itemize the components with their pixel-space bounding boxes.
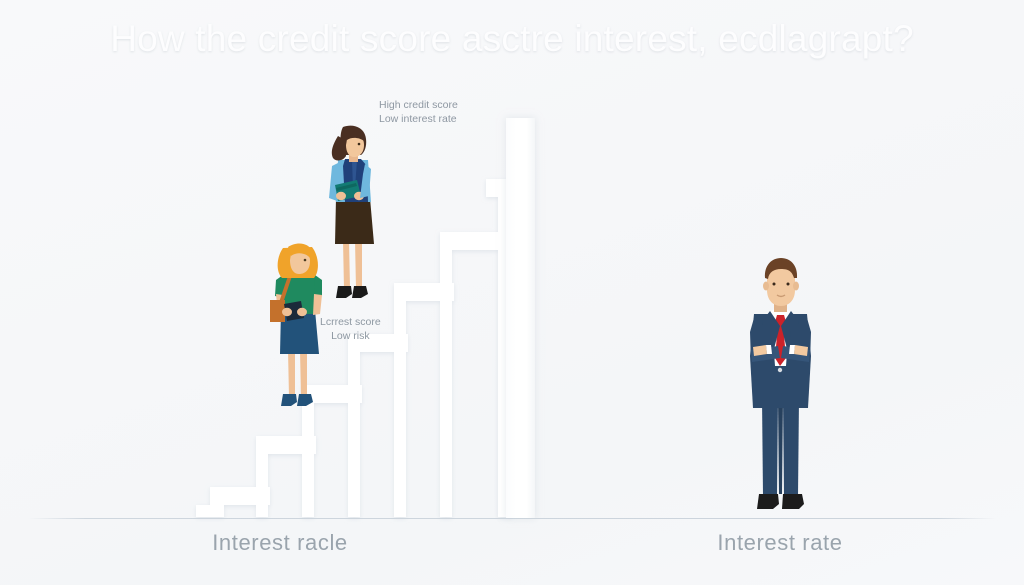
ear-left: [763, 282, 769, 291]
cuff-right: [789, 345, 795, 354]
eye: [358, 143, 361, 146]
forearm-right: [313, 294, 322, 315]
trouser-left: [762, 398, 778, 496]
trouser-right: [783, 398, 799, 496]
leg-right: [355, 240, 362, 289]
annotation-high-credit: High credit score Low interest rate: [379, 99, 458, 126]
cuff-left: [766, 345, 772, 354]
leg-right: [300, 350, 307, 397]
hand-left: [336, 192, 346, 200]
trouser-seam: [778, 398, 783, 494]
caption-right: Interest rate: [640, 530, 920, 556]
businessman-figure: [718, 258, 844, 520]
illustration-canvas: How the credit score asctre interest, ec…: [0, 0, 1024, 585]
shoe-left: [281, 394, 297, 406]
shoe-left: [757, 494, 779, 509]
vertical-column: [506, 118, 535, 518]
eye-left: [773, 283, 776, 286]
hand-right: [297, 308, 307, 316]
ear-right: [793, 282, 799, 291]
shoe-right: [352, 286, 368, 298]
annotation-low-risk-line2: Low risk: [320, 330, 381, 344]
eye-right: [787, 283, 790, 286]
caption-left: Interest racle: [140, 530, 420, 556]
annotation-high-credit-line1: High credit score: [379, 99, 458, 111]
shoe-right: [297, 394, 313, 406]
eye: [304, 259, 307, 262]
annotation-low-risk: Lcrrest score Low risk: [320, 316, 381, 343]
jacket-button: [778, 368, 782, 372]
annotation-low-risk-line1: Lcrrest score: [320, 316, 381, 330]
hand-left: [282, 308, 292, 316]
baseline-divider: [28, 518, 996, 519]
leg-left: [288, 350, 295, 397]
shoe-right: [782, 494, 804, 509]
annotation-high-credit-line2: Low interest rate: [379, 113, 458, 127]
